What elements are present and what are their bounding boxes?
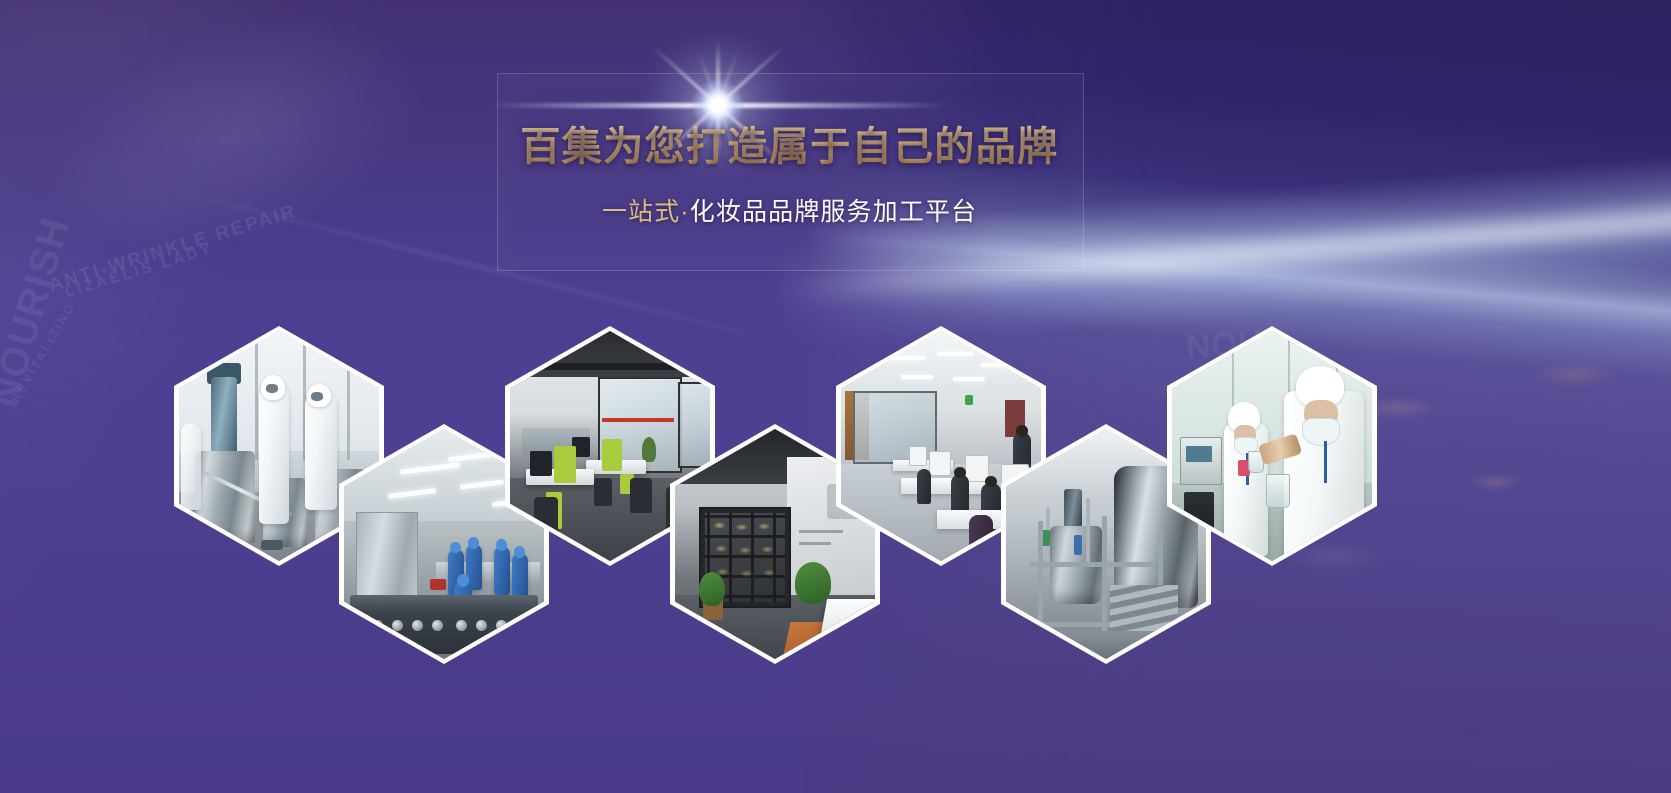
page-title: 百集为您打造属于自己的品牌 (520, 114, 1058, 172)
headline-text-block: 百集为您打造属于自己的品牌 一站式·化妆品品牌服务加工平台 (497, 73, 1082, 269)
ghost-text-anti-wrinkle: ANTI-WRINKLE REPAIR (46, 201, 299, 298)
banner-root: ANTI-WRINKLE REPAIR LIZAELIS LADY NOURIS… (0, 0, 1671, 793)
ghost-text-lady: LIZAELIS LADY (63, 240, 216, 301)
subtitle-white-part: 化妆品品牌服务加工平台 (690, 198, 977, 226)
ghost-text-nourish-sub: REVITALIZING (8, 299, 78, 405)
ghost-text-nourish: NOURISH (0, 212, 79, 412)
page-subtitle: 一站式·化妆品品牌服务加工平台 (602, 192, 977, 228)
subtitle-gold-part: 一站式· (602, 198, 690, 226)
